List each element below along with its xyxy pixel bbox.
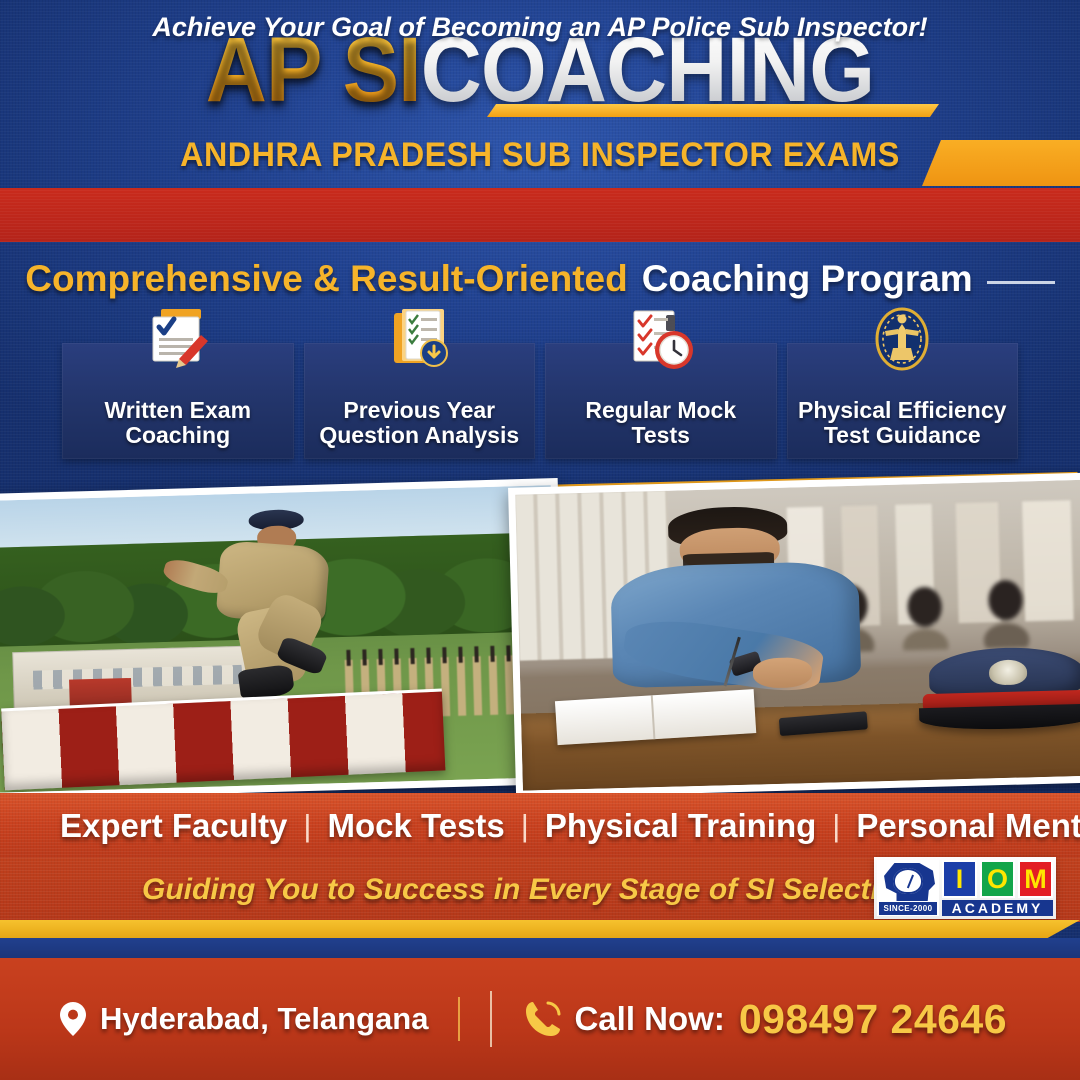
headline-banner (0, 188, 1080, 242)
written-exam-photo (508, 472, 1080, 796)
headline-banner-text: Achieve Your Goal of Becoming an AP Poli… (0, 0, 1080, 54)
feature-item-2: Physical Training (545, 807, 816, 845)
logo-letters: I O M (942, 860, 1053, 898)
question-papers-download-icon (380, 305, 458, 377)
title-underline-bar (487, 104, 939, 117)
logo-mark: SINCE-2000 (877, 860, 939, 916)
location-pin-icon (60, 1002, 86, 1036)
heading-rule (987, 281, 1055, 284)
footer-divider-2 (490, 991, 492, 1047)
feature-item-1: Mock Tests (327, 807, 504, 845)
gold-divider-strip (0, 920, 1080, 938)
logo-letter-o: O (980, 860, 1015, 898)
police-emblem-icon (863, 305, 941, 377)
iom-academy-logo[interactable]: SINCE-2000 I O M ACADEMY (874, 857, 1056, 919)
logo-letter-i: I (942, 860, 977, 898)
feature-card-mock-tests[interactable]: Regular Mock Tests (545, 343, 777, 459)
cap-badge-icon (989, 660, 1028, 686)
logo-academy-text: ACADEMY (942, 900, 1053, 916)
feature-item-0: Expert Faculty (60, 807, 287, 845)
section-heading: Comprehensive & Result-Oriented Coaching… (0, 258, 1080, 300)
training-ground-scene (0, 485, 559, 793)
feature-item-3: Personal Mentoring (856, 807, 1080, 845)
logo-letter-m: M (1018, 860, 1053, 898)
feature-separator: | (521, 808, 529, 844)
section-heading-white: Coaching Program (642, 258, 973, 300)
feature-separator: | (303, 808, 311, 844)
poster-root: AP SICOACHING ANDHRA PRADESH SUB INSPECT… (0, 0, 1080, 1080)
speedometer-icon (893, 868, 923, 894)
feature-card-written-exam[interactable]: Written Exam Coaching (62, 343, 294, 459)
phone-icon (524, 1000, 562, 1038)
footer-divider-1 (458, 997, 460, 1041)
feature-card-physical-efficiency[interactable]: Physical Efficiency Test Guidance (787, 343, 1019, 459)
feature-card-label: Previous Year Question Analysis (319, 398, 519, 450)
physical-training-photo (0, 478, 566, 796)
cap-peak (919, 704, 1080, 732)
feature-card-label: Regular Mock Tests (585, 398, 736, 450)
section-heading-gold: Comprehensive & Result-Oriented (25, 258, 627, 300)
call-now-label: Call Now: (574, 1000, 724, 1038)
document-check-icon (139, 305, 217, 377)
features-list: Expert Faculty | Mock Tests | Physical T… (0, 793, 1080, 858)
page-subtitle: ANDHRA PRADESH SUB INSPECTOR EXAMS (27, 136, 1053, 175)
photo-band (0, 466, 1080, 796)
feature-card-label: Physical Efficiency Test Guidance (798, 398, 1006, 450)
phone-number[interactable]: 098497 24646 (739, 996, 1007, 1043)
logo-wordmark: I O M ACADEMY (939, 860, 1053, 916)
studying-candidate (598, 503, 873, 741)
feature-card-previous-year[interactable]: Previous Year Question Analysis (304, 343, 536, 459)
feature-card-label: Written Exam Coaching (104, 398, 251, 450)
exam-hall-scene (515, 479, 1080, 790)
feature-card-list: Written Exam Coaching (62, 343, 1018, 459)
location-text: Hyderabad, Telangana (100, 1001, 428, 1037)
logo-since-text: SINCE-2000 (879, 902, 937, 915)
police-peaked-cap (918, 645, 1080, 738)
feature-separator: | (832, 808, 840, 844)
checklist-clock-icon (622, 305, 700, 377)
contact-row: Hyderabad, Telangana Call Now: 098497 24… (0, 958, 1080, 1080)
blue-divider-strip (0, 938, 1080, 960)
